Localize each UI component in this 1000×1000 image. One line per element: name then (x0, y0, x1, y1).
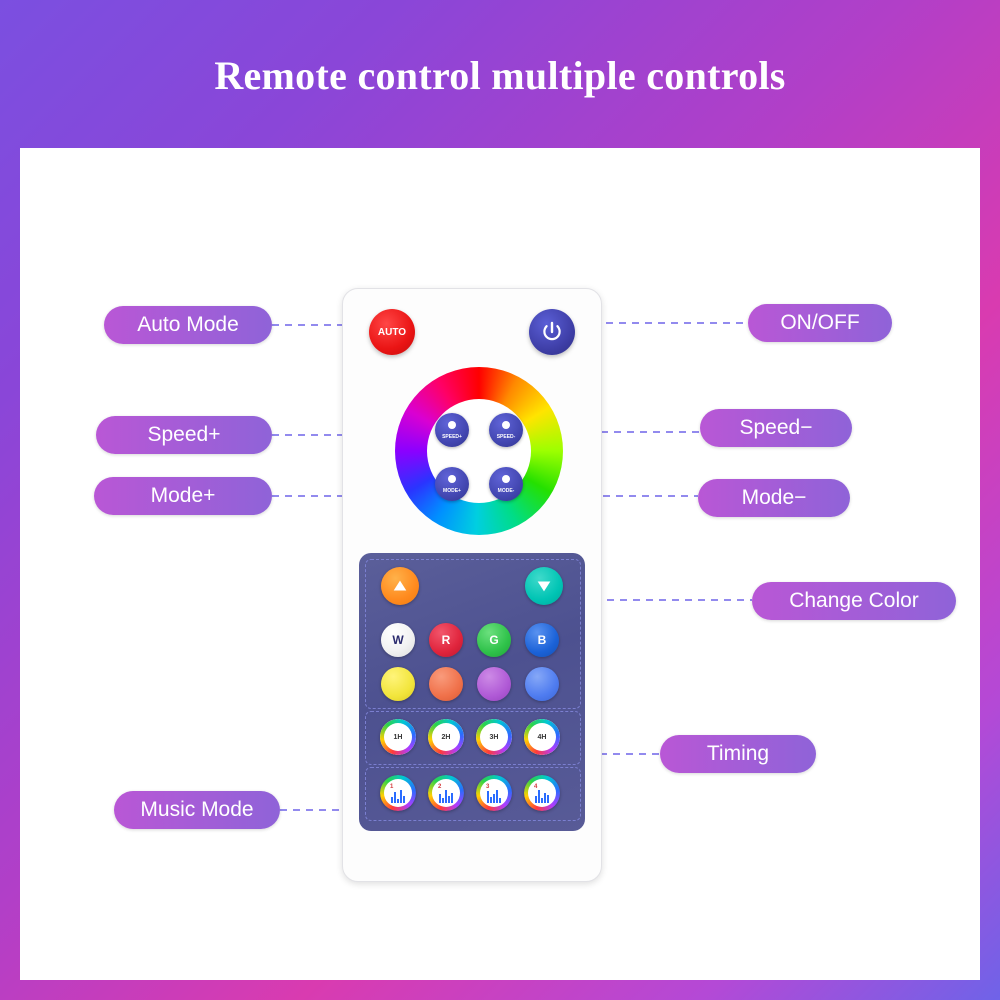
speed-down-button[interactable]: SPEED- (489, 413, 523, 447)
equalizer-icon (391, 788, 405, 803)
power-icon (540, 320, 564, 344)
music-face: 1 (384, 779, 412, 807)
music-button-3[interactable]: 3 (476, 775, 512, 811)
speed-up-button[interactable]: SPEED+ (435, 413, 469, 447)
label-change-color[interactable]: Change Color (752, 582, 956, 620)
color-g-label: G (489, 633, 498, 647)
color-button-purple[interactable] (477, 667, 511, 701)
timing-face: 4H (528, 723, 556, 751)
music-2-label: 2 (438, 784, 441, 790)
timing-3h-label: 3H (490, 734, 499, 741)
mode-up-button[interactable]: MODE+ (435, 467, 469, 501)
mode-down-label: MODE- (498, 488, 515, 494)
color-wheel[interactable]: SPEED+ SPEED- MODE+ MODE- (395, 367, 563, 535)
timing-face: 1H (384, 723, 412, 751)
timing-face: 3H (480, 723, 508, 751)
equalizer-icon (487, 788, 501, 803)
music-button-1[interactable]: 1 (380, 775, 416, 811)
music-4-label: 4 (534, 784, 537, 790)
color-button-r[interactable]: R (429, 623, 463, 657)
timing-button-4h[interactable]: 4H (524, 719, 560, 755)
mode-down-button[interactable]: MODE- (489, 467, 523, 501)
label-on-off[interactable]: ON/OFF (748, 304, 892, 342)
timing-2h-label: 2H (442, 734, 451, 741)
timing-button-2h[interactable]: 2H (428, 719, 464, 755)
label-speed-minus[interactable]: Speed− (700, 409, 852, 447)
color-button-blue[interactable] (525, 667, 559, 701)
color-button-orange[interactable] (429, 667, 463, 701)
color-r-label: R (442, 633, 451, 647)
speed-up-label: SPEED+ (442, 434, 462, 440)
color-button-g[interactable]: G (477, 623, 511, 657)
remote-control: AUTO SPEED+ SPEED- MODE+ MODE- (342, 288, 602, 882)
up-arrow-icon (391, 577, 409, 595)
color-button-b[interactable]: B (525, 623, 559, 657)
music-face: 4 (528, 779, 556, 807)
auto-mode-button[interactable]: AUTO (369, 309, 415, 355)
color-button-yellow[interactable] (381, 667, 415, 701)
label-mode-minus[interactable]: Mode− (698, 479, 850, 517)
mode-up-label: MODE+ (443, 488, 461, 494)
label-timing[interactable]: Timing (660, 735, 816, 773)
label-auto-mode[interactable]: Auto Mode (104, 306, 272, 344)
timing-face: 2H (432, 723, 460, 751)
timing-4h-label: 4H (538, 734, 547, 741)
color-b-label: B (538, 633, 547, 647)
label-mode-plus[interactable]: Mode+ (94, 477, 272, 515)
auto-button-label: AUTO (378, 327, 406, 338)
music-1-label: 1 (390, 784, 393, 790)
timing-button-1h[interactable]: 1H (380, 719, 416, 755)
music-button-4[interactable]: 4 (524, 775, 560, 811)
color-button-w[interactable]: W (381, 623, 415, 657)
music-button-2[interactable]: 2 (428, 775, 464, 811)
button-pad: W R G B 1H 2H (359, 553, 585, 831)
speed-down-label: SPEED- (497, 434, 516, 440)
equalizer-icon (439, 788, 453, 803)
equalizer-icon (535, 788, 549, 803)
music-3-label: 3 (486, 784, 489, 790)
color-w-label: W (392, 633, 403, 647)
label-speed-plus[interactable]: Speed+ (96, 416, 272, 454)
page-title: Remote control multiple controls (0, 52, 1000, 99)
timing-button-3h[interactable]: 3H (476, 719, 512, 755)
brightness-up-button[interactable] (381, 567, 419, 605)
timing-1h-label: 1H (394, 734, 403, 741)
power-button[interactable] (529, 309, 575, 355)
music-face: 3 (480, 779, 508, 807)
label-music-mode[interactable]: Music Mode (114, 791, 280, 829)
brightness-down-button[interactable] (525, 567, 563, 605)
music-face: 2 (432, 779, 460, 807)
down-arrow-icon (535, 577, 553, 595)
